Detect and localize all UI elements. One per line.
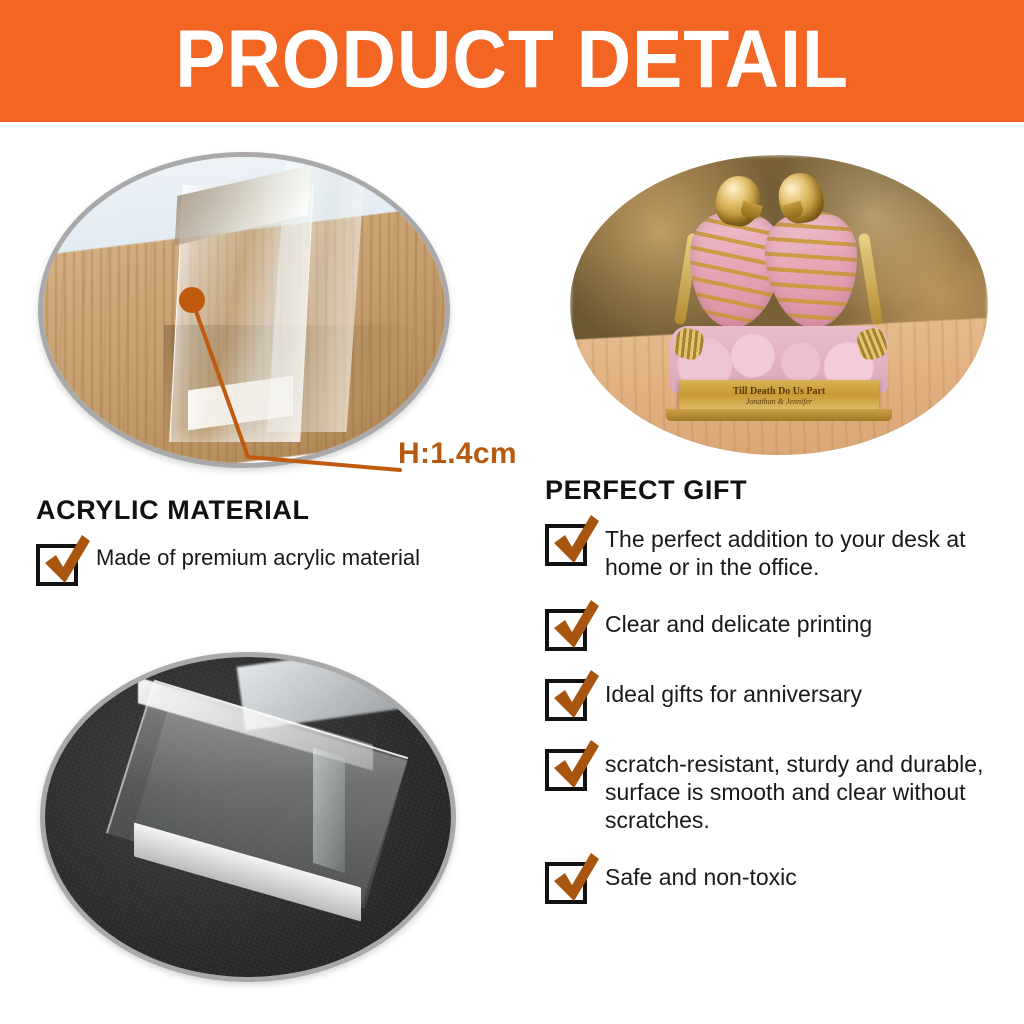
feature-item: Made of premium acrylic material bbox=[36, 542, 536, 586]
checkmark-icon bbox=[546, 667, 602, 725]
feature-list-perfect-gift: The perfect addition to your desk at hom… bbox=[545, 522, 1005, 904]
section-heading-acrylic-material: ACRYLIC MATERIAL bbox=[36, 495, 536, 526]
checkmark-icon bbox=[37, 532, 93, 590]
feature-text: Clear and delicate printing bbox=[605, 607, 872, 638]
feature-text: Safe and non-toxic bbox=[605, 860, 797, 891]
section-acrylic-material: ACRYLIC MATERIAL Made of premium acrylic… bbox=[36, 495, 536, 608]
section-heading-perfect-gift: PERFECT GIFT bbox=[545, 475, 1005, 506]
feature-item: The perfect addition to your desk at hom… bbox=[545, 522, 1005, 581]
feature-item: Safe and non-toxic bbox=[545, 860, 1005, 904]
checkbox-checked-icon[interactable] bbox=[545, 609, 587, 651]
checkmark-icon bbox=[546, 737, 602, 795]
checkbox-checked-icon[interactable] bbox=[545, 524, 587, 566]
feature-text: The perfect addition to your desk at hom… bbox=[605, 522, 1005, 581]
checkmark-icon bbox=[546, 512, 602, 570]
checkmark-icon bbox=[546, 850, 602, 908]
checkbox-checked-icon[interactable] bbox=[545, 679, 587, 721]
section-perfect-gift: PERFECT GIFT The perfect addition to you… bbox=[545, 475, 1005, 930]
feature-item: Clear and delicate printing bbox=[545, 607, 1005, 651]
plaque-line-1: Till Death Do Us Part bbox=[733, 387, 826, 398]
acrylic-slab-right-side bbox=[313, 748, 345, 874]
feature-text: Ideal gifts for anniversary bbox=[605, 677, 862, 708]
acrylic-block-edge-photo bbox=[38, 152, 450, 468]
checkbox-checked-icon[interactable] bbox=[545, 749, 587, 791]
feature-text: Made of premium acrylic material bbox=[96, 542, 420, 572]
header-banner: PRODUCT DETAIL bbox=[0, 0, 1024, 122]
feature-text: scratch-resistant, sturdy and durable, s… bbox=[605, 747, 1005, 834]
feature-item: Ideal gifts for anniversary bbox=[545, 677, 1005, 721]
plaque-line-2: Jonathan & Jennifer bbox=[746, 398, 812, 406]
checkbox-checked-icon[interactable] bbox=[545, 862, 587, 904]
figurine-base bbox=[666, 409, 892, 421]
product-detail-page: PRODUCT DETAIL Till Death Do Us Part Jon… bbox=[0, 0, 1024, 1024]
checkbox-checked-icon[interactable] bbox=[36, 544, 78, 586]
acrylic-slab-flat-photo bbox=[40, 652, 456, 982]
height-label: H:1.4cm bbox=[398, 437, 517, 471]
feature-item: scratch-resistant, sturdy and durable, s… bbox=[545, 747, 1005, 834]
page-title: PRODUCT DETAIL bbox=[175, 19, 849, 101]
checkmark-icon bbox=[546, 597, 602, 655]
skeleton-couple-figurine-photo: Till Death Do Us Part Jonathan & Jennife… bbox=[570, 155, 988, 455]
feature-list-acrylic-material: Made of premium acrylic material bbox=[36, 542, 536, 586]
